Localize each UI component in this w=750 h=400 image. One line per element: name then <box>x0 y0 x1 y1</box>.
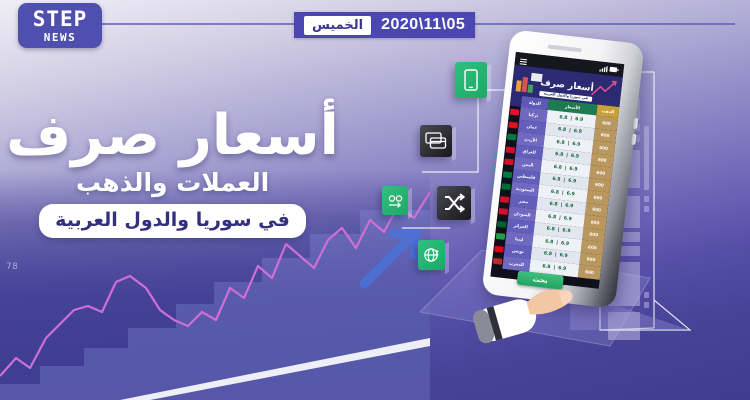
weekday-badge: الخميس <box>304 16 371 35</box>
credit-card-icon[interactable] <box>420 125 452 157</box>
battery-icon <box>609 67 619 73</box>
chart-annotation-78: 78 <box>6 262 18 272</box>
currency-stack-icon <box>515 70 543 95</box>
headline-block: أسعار صرف العملات والذهب في سوريا والدول… <box>0 108 345 238</box>
country-flag-icon <box>507 118 519 132</box>
mobile-phone-icon[interactable] <box>455 62 487 98</box>
logo-news-text: NEWS <box>44 32 77 43</box>
headline-primary: أسعار صرف <box>0 108 345 164</box>
country-flag-icon <box>501 168 513 182</box>
date-bar: الخميس 2020\11\05 <box>294 12 475 38</box>
country-flag-icon <box>493 242 505 256</box>
headline-secondary: العملات والذهب <box>0 170 345 195</box>
money-exchange-icon[interactable] <box>382 186 408 215</box>
country-flag-icon <box>494 230 506 244</box>
country-flag-icon <box>504 143 516 157</box>
step-news-logo[interactable]: STEP NEWS <box>18 3 102 48</box>
signal-icon <box>599 65 608 72</box>
country-flag-icon <box>497 205 509 219</box>
shuffle-arrows-icon[interactable] <box>437 186 471 220</box>
globe-dollar-icon[interactable] <box>418 240 445 270</box>
date-value: 2020\11\05 <box>381 16 465 34</box>
headline-pill: في سوريا والدول العربية <box>39 204 306 238</box>
country-flag-icon <box>506 130 518 144</box>
logo-step-text: STEP <box>33 9 88 30</box>
country-flag-icon <box>508 106 520 120</box>
pointing-hand <box>470 262 590 352</box>
country-flag-icon <box>500 180 512 194</box>
country-flag-icon <box>499 193 511 207</box>
country-flag-icon <box>496 217 508 231</box>
country-flag-icon <box>503 155 515 169</box>
rising-arrow-icon <box>590 77 618 100</box>
currency-table: 6006.9|6.8تركيا6006.9|6.8عمان6006.9|6.8ا… <box>491 106 618 280</box>
infographic-banner: 78 <box>0 0 750 400</box>
